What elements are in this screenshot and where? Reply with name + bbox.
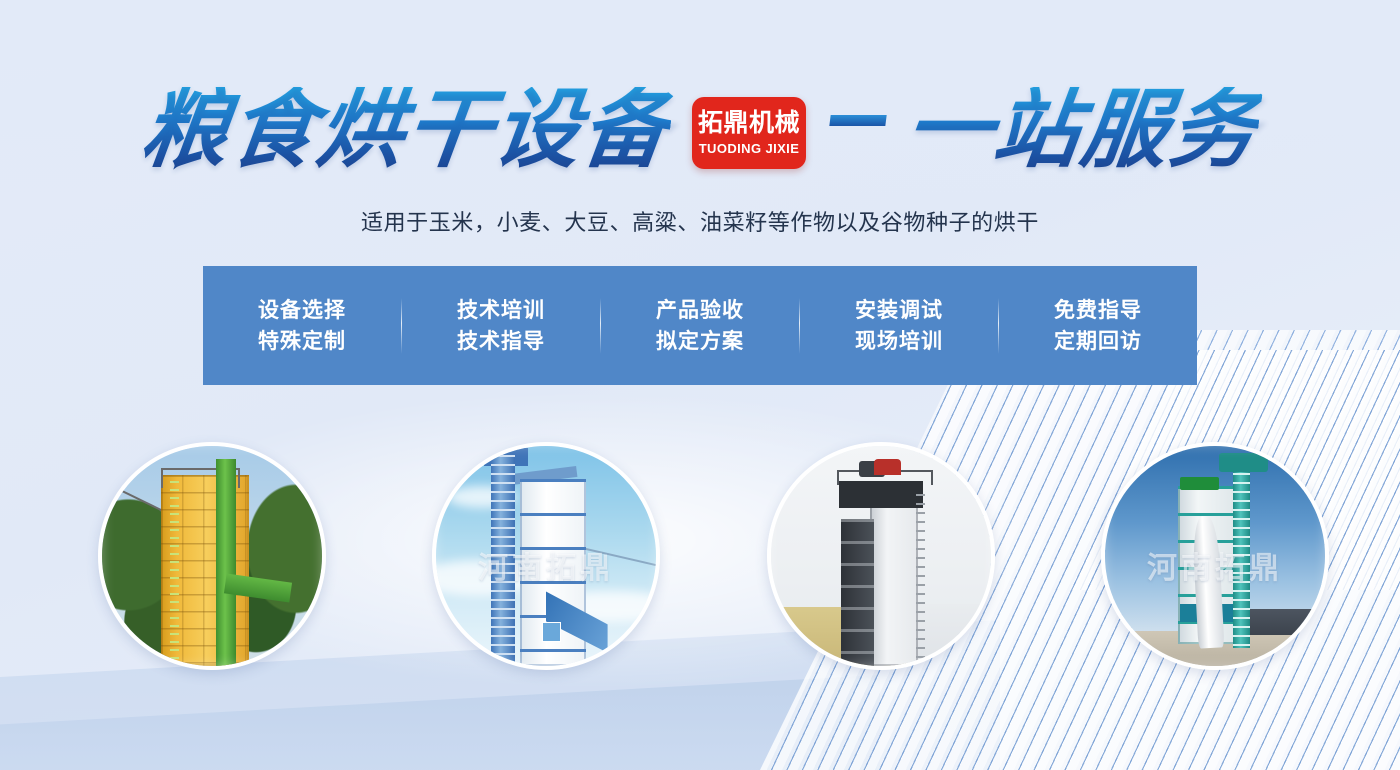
grain-dryer-photo-yellow xyxy=(102,446,322,666)
grain-dryer-photo-teal: 河南拓鼎 xyxy=(1105,446,1325,666)
control-panel xyxy=(542,622,562,642)
photo-watermark: 河南拓鼎 xyxy=(1105,543,1325,587)
feature-item-3-line1: 产品验收 xyxy=(656,295,744,325)
feature-item-3-line2: 拟定方案 xyxy=(656,326,744,356)
photo-watermark: 河南拓鼎 xyxy=(436,543,656,587)
photo-circle-3[interactable] xyxy=(767,442,995,670)
feature-item-2-line2: 技术指导 xyxy=(457,326,545,356)
tower-brand-sign xyxy=(1180,477,1220,490)
feature-item-1-line2: 特殊定制 xyxy=(258,326,346,356)
feature-item-4-line1: 安装调试 xyxy=(855,295,943,325)
brand-logo-badge: 拓鼎机械 TUODING JIXIE xyxy=(692,97,806,169)
headline-secondary-text: 一站服务 xyxy=(901,87,1264,173)
feature-item-4[interactable]: 安装调试 现场培训 xyxy=(800,295,998,356)
background-shed xyxy=(1241,609,1325,635)
promo-banner: 粮食烘干设备 拓鼎机械 TUODING JIXIE 一站服务 适用于玉米，小麦、… xyxy=(0,0,1400,770)
grain-dryer-photo-blue: 河南拓鼎 xyxy=(436,446,656,666)
tower-ladder xyxy=(170,481,179,661)
dryer-dark-section xyxy=(841,519,874,666)
elevator-head xyxy=(1219,453,1267,473)
feature-item-1[interactable]: 设备选择 特殊定制 xyxy=(203,295,401,356)
feature-item-5[interactable]: 免费指导 定期回访 xyxy=(999,295,1197,356)
em-dash-decoration xyxy=(829,115,886,126)
subtitle-text: 适用于玉米，小麦、大豆、高粱、油菜籽等作物以及谷物种子的烘干 xyxy=(0,205,1400,237)
feature-item-3[interactable]: 产品验收 拟定方案 xyxy=(601,295,799,356)
photo-circle-4[interactable]: 河南拓鼎 xyxy=(1101,442,1329,670)
tower-ladder xyxy=(916,494,925,666)
brand-name-en: TUODING JIXIE xyxy=(699,141,800,156)
headline-primary-text: 粮食烘干设备 xyxy=(137,87,676,173)
feature-item-1-line1: 设备选择 xyxy=(258,295,346,325)
feature-bar: 设备选择 特殊定制 技术培训 技术指导 产品验收 拟定方案 安装调试 现场培训 … xyxy=(203,266,1197,385)
feature-item-5-line1: 免费指导 xyxy=(1054,295,1142,325)
dryer-tower-body xyxy=(870,490,918,666)
feature-item-2[interactable]: 技术培训 技术指导 xyxy=(402,295,600,356)
red-motor-cover xyxy=(874,459,900,474)
brand-name-cn: 拓鼎机械 xyxy=(698,110,800,135)
photo-circle-1[interactable] xyxy=(98,442,326,670)
photo-circle-2[interactable]: 河南拓鼎 xyxy=(432,442,660,670)
feature-item-2-line1: 技术培训 xyxy=(457,295,545,325)
bucket-elevator xyxy=(216,459,236,666)
feature-item-5-line2: 定期回访 xyxy=(1054,326,1142,356)
headline-row: 粮食烘干设备 拓鼎机械 TUODING JIXIE 一站服务 xyxy=(0,72,1400,187)
photo-gallery: 河南拓鼎 xyxy=(0,437,1400,687)
feature-item-4-line2: 现场培训 xyxy=(855,326,943,356)
grain-dryer-photo-grey xyxy=(771,446,991,666)
